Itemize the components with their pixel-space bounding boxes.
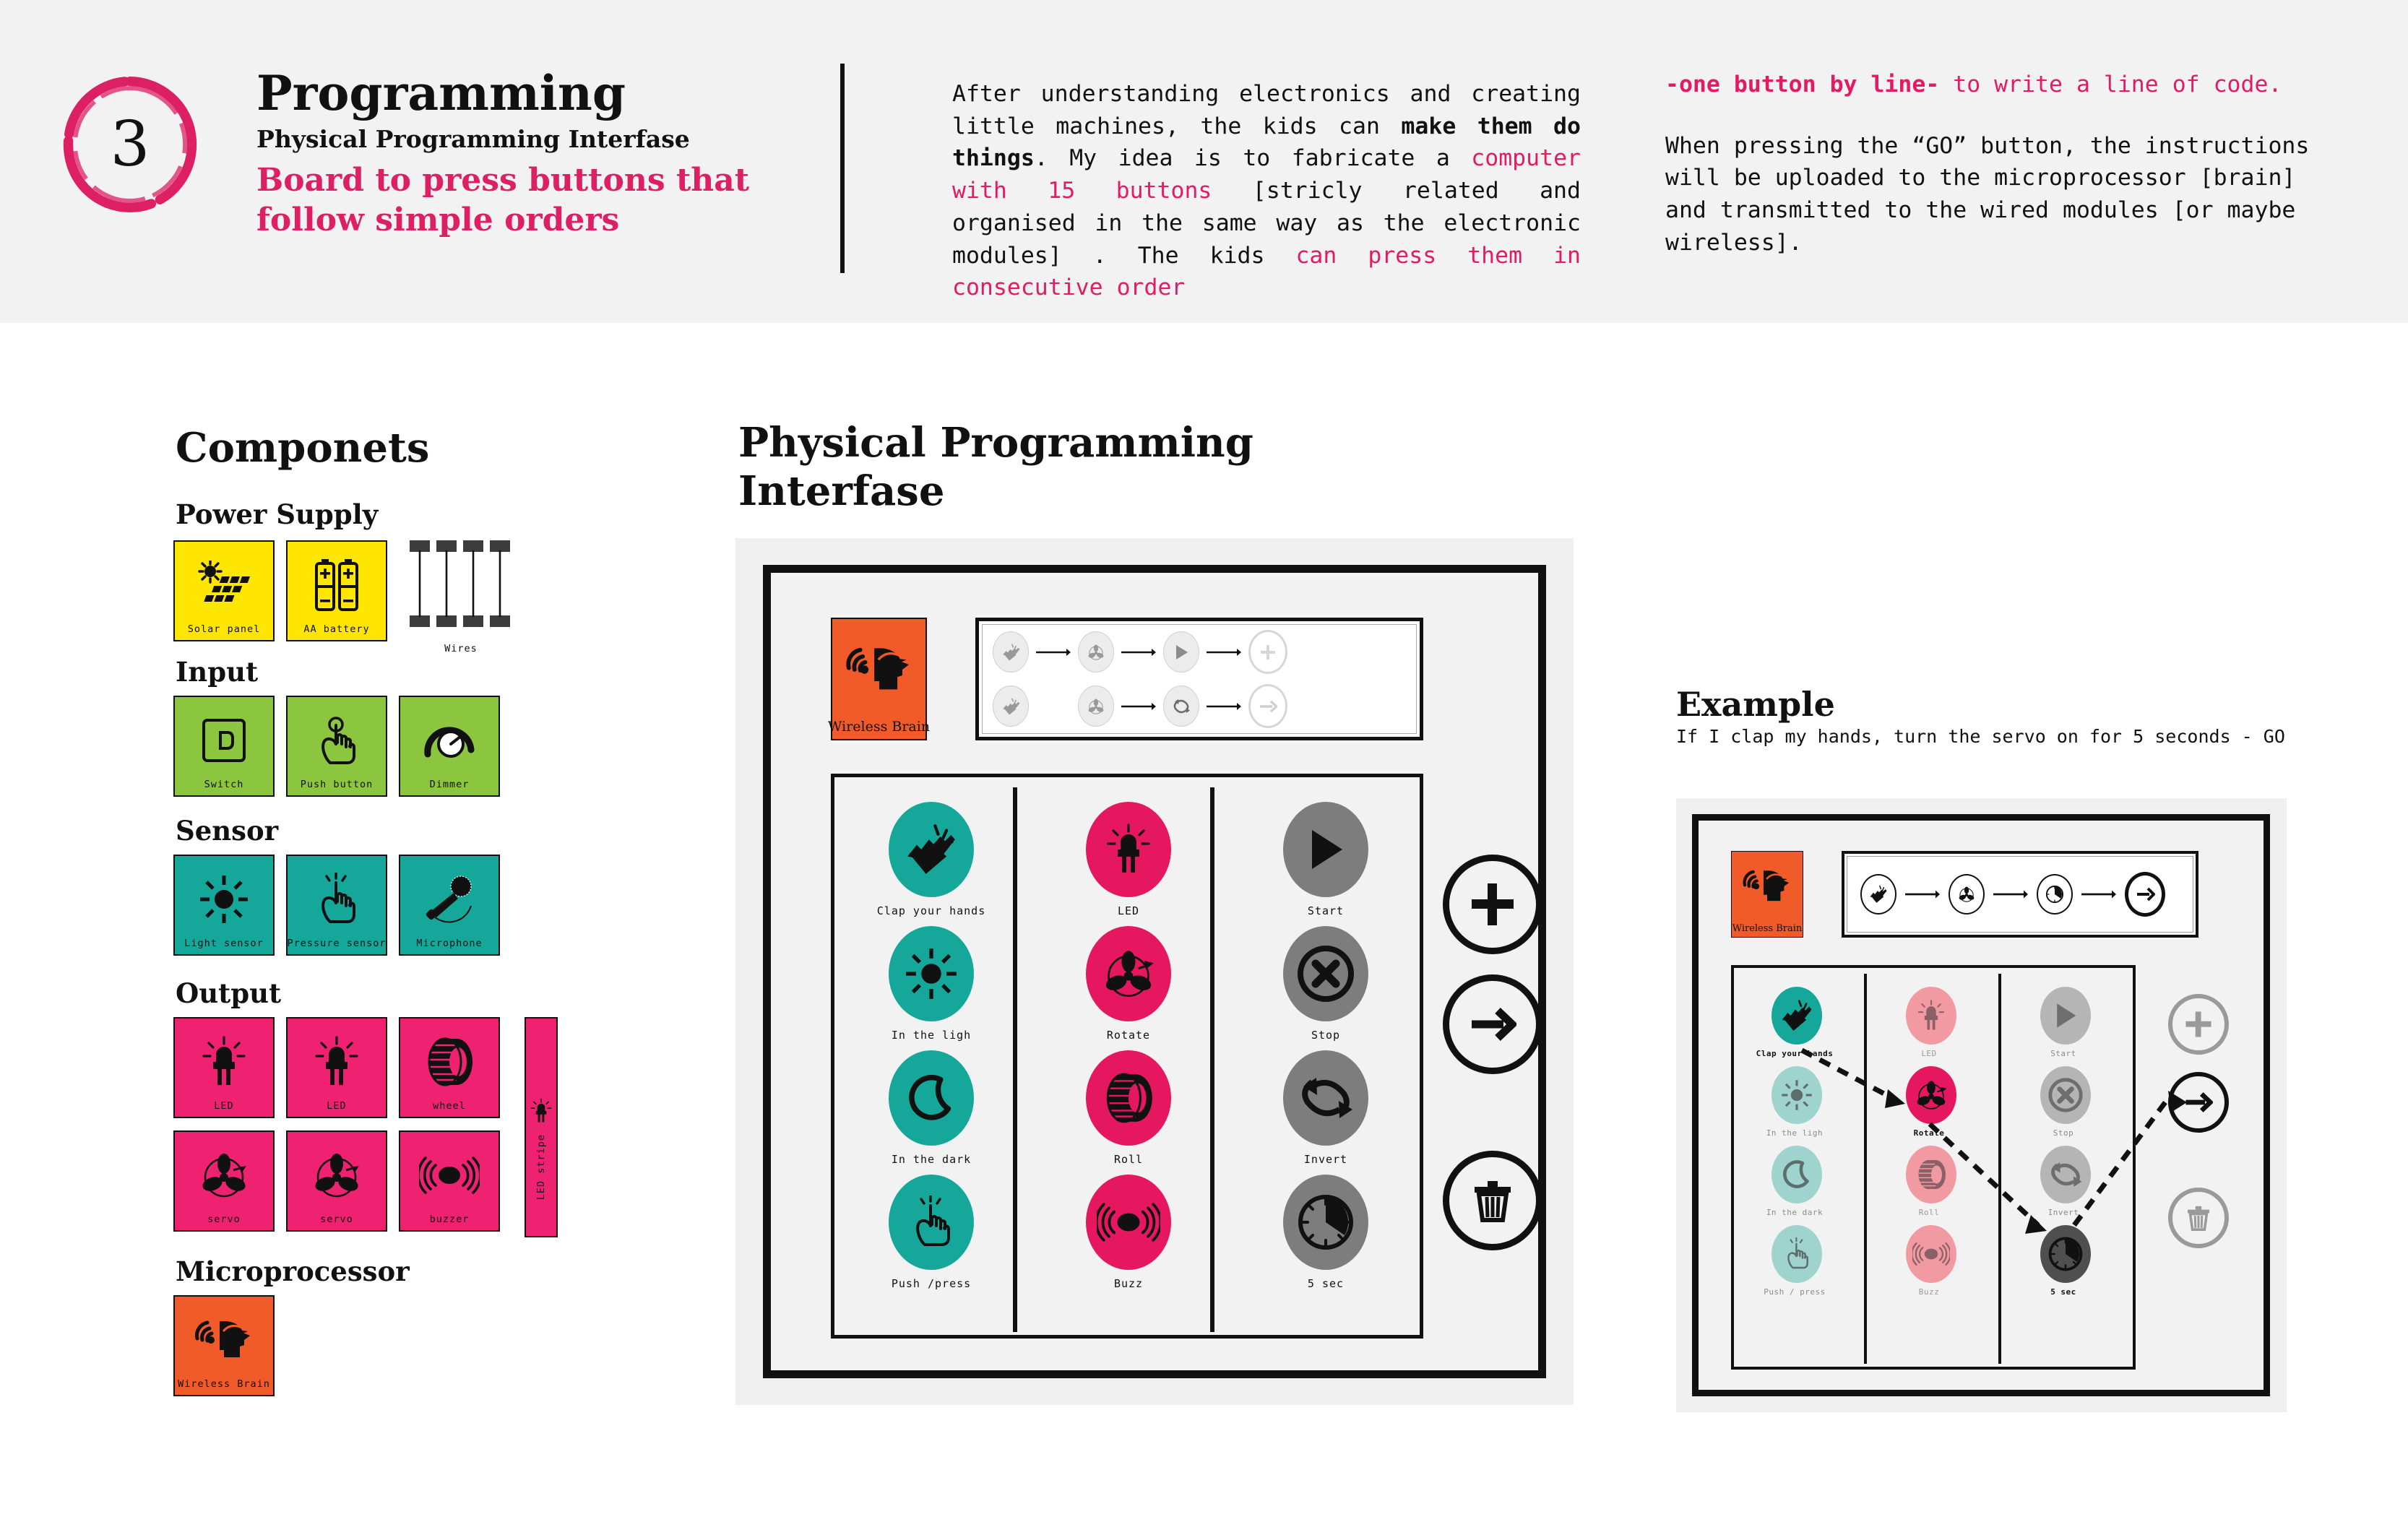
arrow-right-icon <box>2125 872 2165 917</box>
example-button-label: Start <box>2002 1049 2125 1058</box>
button-start[interactable] <box>1283 802 1368 897</box>
component-caption: servo <box>320 1214 353 1225</box>
button-label: Roll <box>1042 1153 1215 1166</box>
play-icon <box>1305 826 1347 873</box>
example-button-label: Buzz <box>1868 1287 1990 1297</box>
example-button-label: In the dark <box>1733 1208 1856 1217</box>
component-caption: buzzer <box>430 1214 470 1225</box>
button-label: Invert <box>1239 1153 1412 1166</box>
page-tagline-line2: follow simple orders <box>256 202 834 240</box>
servo-icon <box>1078 631 1114 673</box>
group-label-power-supply: Power Supply <box>176 498 378 530</box>
interface-board: Wireless Brain <box>735 538 1574 1405</box>
wires-icon <box>408 540 514 634</box>
hp-t2: . My idea is to fabricate a <box>1035 145 1471 171</box>
component-tile-servo-1[interactable]: servo <box>173 1130 275 1232</box>
example-screen <box>1842 851 2198 938</box>
button-in-the-dark[interactable] <box>889 1050 974 1146</box>
switch-icon <box>175 710 273 771</box>
interface-title-line1: Physical Programming <box>738 419 1389 467</box>
component-caption: Microphone <box>416 938 482 949</box>
servo-icon <box>1949 874 1985 914</box>
component-caption: Solar panel <box>188 623 260 635</box>
button-label: Push /press <box>845 1277 1018 1290</box>
component-caption: Pressure sensor <box>288 938 387 949</box>
component-caption: AA battery <box>303 623 369 635</box>
page-tagline-line1: Board to press buttons that <box>256 162 834 200</box>
group-label-output: Output <box>176 977 281 1009</box>
servo-icon <box>1100 948 1157 999</box>
arrow-icon <box>1207 647 1241 657</box>
example-subtitle: If I clap my hands, turn the servo on fo… <box>1676 726 2285 747</box>
component-tile-dimmer[interactable]: Dimmer <box>399 696 500 797</box>
button-push-press[interactable] <box>889 1175 974 1270</box>
led-icon <box>1917 1000 1945 1032</box>
button-buzz[interactable] <box>1086 1175 1171 1270</box>
grid-column-outputs: LED Rotate <box>1032 777 1229 1335</box>
section-badge: 3 <box>61 76 206 220</box>
moon-icon <box>907 1073 956 1123</box>
example-column-inputs: Clap your hands In the ligh <box>1734 968 1868 1367</box>
stop-icon <box>2047 1076 2084 1114</box>
button-stop[interactable] <box>1283 926 1368 1021</box>
example-button-label: LED <box>1868 1049 1990 1058</box>
component-tile-solar-panel[interactable]: Solar panel <box>173 540 275 641</box>
arrow-icon <box>1121 701 1156 712</box>
button-label: Rotate <box>1042 1029 1215 1042</box>
plus-icon <box>1248 630 1287 674</box>
example-screen-content <box>1847 856 2193 933</box>
hr-t2: When pressing the “GO” button, the instr… <box>1665 130 2316 259</box>
code-line-2 <box>993 684 1416 728</box>
component-tile-led-2[interactable]: LED <box>286 1017 387 1118</box>
button-in-the-light[interactable] <box>889 926 974 1021</box>
delete-button[interactable] <box>1443 1151 1542 1250</box>
component-tile-wheel[interactable]: wheel <box>399 1017 500 1118</box>
button-clap-your-hands[interactable] <box>889 802 974 897</box>
example-add-button[interactable] <box>2168 994 2229 1055</box>
badge-number: 3 <box>61 76 199 213</box>
component-caption: Switch <box>204 779 244 790</box>
component-tile-aa-battery[interactable]: AA battery <box>286 540 387 641</box>
button-roll[interactable] <box>1086 1050 1171 1146</box>
example-delete-button[interactable] <box>2168 1188 2229 1248</box>
example-brain-caption: Wireless Brain <box>1732 923 1803 934</box>
example-column-outputs: LED Rotate <box>1868 968 2003 1367</box>
interface-brain-caption: Wireless Brain <box>828 719 930 735</box>
arrow-right-icon <box>2184 1088 2213 1117</box>
solar-panel-icon <box>175 555 273 615</box>
dimmer-icon <box>400 710 499 771</box>
example-button-in-the-dark[interactable] <box>1772 1146 1822 1203</box>
button-label: In the dark <box>845 1153 1018 1166</box>
clock-icon <box>2037 874 2073 914</box>
press-finger-icon <box>288 869 386 930</box>
component-tile-wireless-brain[interactable]: Wireless Brain <box>173 1295 275 1396</box>
example-button-roll[interactable] <box>1906 1146 1956 1203</box>
hr-p1: to write a line of code. <box>1939 72 2282 98</box>
interface-brain-module[interactable]: Wireless Brain <box>831 618 927 740</box>
led-icon <box>1106 823 1151 875</box>
push-button-icon <box>288 710 386 771</box>
button-label: Clap your hands <box>845 904 1018 917</box>
clap-icon <box>993 686 1029 727</box>
example-button-buzz[interactable] <box>1906 1225 1956 1283</box>
play-icon <box>2053 1001 2079 1030</box>
button-led[interactable] <box>1086 802 1171 897</box>
page-subtitle: Physical Programming Interfase <box>256 126 834 153</box>
clap-icon <box>1860 874 1896 914</box>
buzzer-icon <box>1097 1201 1160 1243</box>
example-button-label: Stop <box>2002 1128 2125 1138</box>
interface-title-line2: Interfase <box>738 467 1389 516</box>
example-go-button[interactable] <box>2168 1072 2229 1133</box>
arrow-icon <box>1905 889 1940 899</box>
component-tile-led-1[interactable]: LED <box>173 1017 275 1118</box>
header-divider <box>840 64 845 273</box>
group-label-input: Input <box>176 656 258 688</box>
trash-icon <box>1471 1178 1514 1223</box>
press-finger-icon <box>909 1195 954 1249</box>
example-button-led[interactable] <box>1906 987 1956 1045</box>
invert-icon <box>1295 1072 1357 1124</box>
header-paragraph-right: -one button by line- to write a line of … <box>1665 69 2316 259</box>
microphone-icon <box>400 869 499 930</box>
arrow-icon <box>2081 889 2116 899</box>
clock-icon <box>1294 1190 1358 1254</box>
example-board-frame: Wireless Brain <box>1692 814 2270 1396</box>
sun-icon <box>905 947 958 1000</box>
trash-icon <box>2185 1204 2211 1232</box>
component-caption: Wireless Brain <box>178 1378 270 1390</box>
component-caption: Light sensor <box>184 938 264 949</box>
component-tile-led-stripe[interactable]: LED stripe <box>525 1017 558 1237</box>
led-icon <box>530 1098 552 1124</box>
plus-icon <box>2184 1010 2213 1039</box>
component-tile-push-button[interactable]: Push button <box>286 696 387 797</box>
clock-icon <box>2046 1235 2085 1274</box>
example-button-start[interactable] <box>2040 987 2091 1045</box>
grid-column-actions: Start Stop Invert <box>1229 777 1426 1335</box>
page-header: 3 Programming Physical Programming Inter… <box>0 0 2408 323</box>
example-button-label: Clap your hands <box>1733 1049 1856 1058</box>
code-line-1 <box>993 630 1416 674</box>
stop-icon <box>1295 943 1357 1005</box>
arrow-right-icon <box>1248 684 1287 728</box>
example-button-label: Invert <box>2002 1208 2125 1217</box>
component-caption: Dimmer <box>430 779 470 790</box>
example-button-in-the-light[interactable] <box>1772 1066 1822 1124</box>
go-button[interactable] <box>1443 974 1542 1074</box>
example-grid-divider-1 <box>1864 974 1867 1364</box>
plus-icon <box>1469 881 1516 928</box>
servo-icon <box>1078 686 1114 727</box>
interface-button-grid: Clap your hands In the ligh <box>831 774 1423 1339</box>
wireless-brain-icon <box>1732 860 1803 912</box>
led-icon <box>288 1032 386 1092</box>
hr-pb1: -one button by line- <box>1665 72 1939 98</box>
moon-icon <box>1782 1159 1812 1190</box>
play-icon <box>1163 631 1199 673</box>
example-button-rotate[interactable] <box>1906 1066 1956 1124</box>
button-label: Buzz <box>1042 1277 1215 1290</box>
button-label: Start <box>1239 904 1412 917</box>
clap-icon <box>905 823 958 876</box>
example-brain-module[interactable]: Wireless Brain <box>1731 851 1803 938</box>
component-tile-microphone[interactable]: Microphone <box>399 855 500 956</box>
component-caption: LED stripe <box>535 1134 547 1200</box>
battery-icon <box>288 555 386 615</box>
interface-title: Physical Programming Interfase <box>738 419 1389 516</box>
example-board: Wireless Brain <box>1676 798 2287 1412</box>
example-button-label: Roll <box>1868 1208 1990 1217</box>
component-caption: wheel <box>433 1100 466 1112</box>
component-tile-switch[interactable]: Switch <box>173 696 275 797</box>
clap-icon <box>993 631 1029 673</box>
example-column-actions: Start Stop Invert <box>2003 968 2137 1367</box>
button-rotate[interactable] <box>1086 926 1171 1021</box>
arrow-icon <box>1993 889 2028 899</box>
grid-column-inputs: Clap your hands In the ligh <box>834 777 1032 1335</box>
wheel-icon <box>1913 1159 1949 1190</box>
wheel-icon <box>1099 1072 1158 1124</box>
button-5-sec[interactable] <box>1283 1175 1368 1270</box>
component-caption: LED <box>214 1100 233 1112</box>
components-title: Componets <box>176 424 429 472</box>
clap-icon <box>1780 999 1813 1032</box>
component-caption: servo <box>207 1214 241 1225</box>
component-tile-pressure-sensor[interactable]: Pressure sensor <box>286 855 387 956</box>
wireless-brain-icon <box>832 634 925 706</box>
component-tile-wires[interactable] <box>408 540 514 634</box>
servo-icon <box>1914 1079 1949 1111</box>
led-icon <box>175 1032 273 1092</box>
button-label: In the ligh <box>845 1029 1018 1042</box>
component-caption: Push button <box>301 779 373 790</box>
wireless-brain-icon <box>175 1310 273 1370</box>
sun-icon <box>175 869 273 930</box>
wheel-icon <box>400 1032 499 1092</box>
component-caption: LED <box>327 1100 346 1112</box>
servo-icon <box>175 1145 273 1206</box>
arrow-icon <box>1207 701 1241 712</box>
invert-icon <box>1163 686 1199 727</box>
sun-icon <box>1781 1079 1813 1111</box>
button-invert[interactable] <box>1283 1050 1368 1146</box>
example-button-stop[interactable] <box>2040 1066 2091 1124</box>
group-label-sensor: Sensor <box>176 815 278 847</box>
component-tile-servo-2[interactable]: servo <box>286 1130 387 1232</box>
example-button-5-sec[interactable] <box>2040 1225 2091 1283</box>
button-label: 5 sec <box>1239 1277 1412 1290</box>
buzzer-icon <box>400 1145 499 1206</box>
example-button-invert[interactable] <box>2040 1146 2091 1203</box>
title-block: Programming Physical Programming Interfa… <box>256 69 834 240</box>
example-button-clap-your-hands[interactable] <box>1772 987 1822 1045</box>
example-button-label: Rotate <box>1868 1128 1990 1138</box>
interface-screen-content <box>982 624 1417 734</box>
example-button-push-press[interactable] <box>1772 1225 1822 1283</box>
component-tile-buzzer[interactable]: buzzer <box>399 1130 500 1232</box>
header-paragraph-middle: After understanding electronics and crea… <box>952 78 1581 304</box>
example-button-label: 5 sec <box>2002 1287 2125 1297</box>
button-label: LED <box>1042 904 1215 917</box>
interface-board-frame: Wireless Brain <box>763 565 1546 1378</box>
button-label: Stop <box>1239 1029 1412 1042</box>
add-button[interactable] <box>1443 855 1542 954</box>
component-caption: Wires <box>408 643 514 654</box>
grid-divider-1 <box>1013 787 1017 1332</box>
buzzer-icon <box>1912 1241 1950 1267</box>
interface-screen <box>975 618 1423 740</box>
page-title: Programming <box>256 69 834 118</box>
component-tile-light-sensor[interactable]: Light sensor <box>173 855 275 956</box>
servo-icon <box>288 1145 386 1206</box>
example-button-label: Push / press <box>1733 1287 1856 1297</box>
press-finger-icon <box>1783 1237 1811 1271</box>
group-label-microprocessor: Microprocessor <box>176 1255 410 1287</box>
example-title: Example <box>1676 685 1835 724</box>
arrow-icon <box>1036 647 1071 657</box>
grid-divider-2 <box>1210 787 1214 1332</box>
example-button-label: In the ligh <box>1733 1128 1856 1138</box>
arrow-right-icon <box>1469 1000 1516 1048</box>
invert-icon <box>2047 1159 2084 1190</box>
example-button-grid: Clap your hands In the ligh <box>1731 965 2136 1370</box>
example-grid-divider-2 <box>1998 974 2001 1364</box>
arrow-icon <box>1121 647 1156 657</box>
